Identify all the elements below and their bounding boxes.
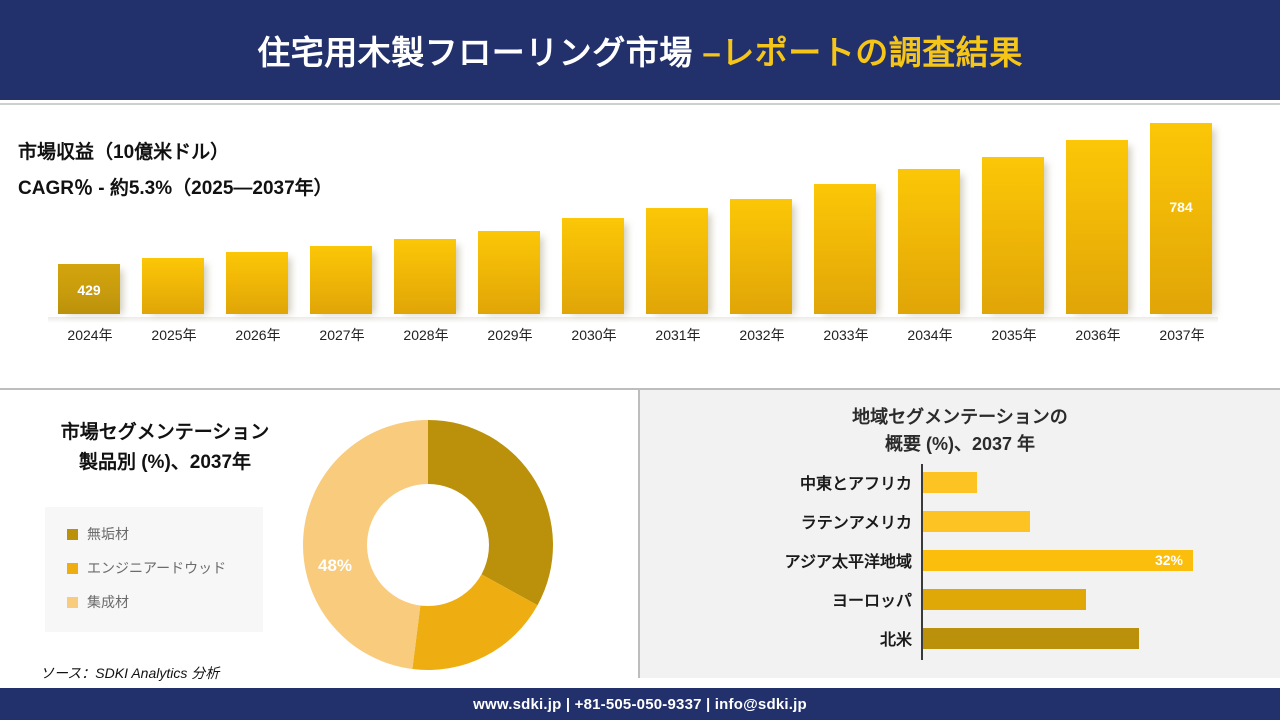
regional-segmentation-title-line1: 地域セグメンテーションの: [640, 404, 1280, 431]
bar-column: [972, 155, 1056, 314]
legend-item-label: エンジニアードウッド: [87, 558, 226, 578]
bar-rect: 784: [1150, 123, 1212, 314]
region-bar: [923, 511, 1030, 532]
bar-x-axis-label: 2035年: [972, 325, 1056, 345]
page-header: 住宅用木製フローリング市場 –レポートの調査結果: [0, 0, 1280, 100]
regional-segmentation-panel: 地域セグメンテーションの 概要 (%)、2037 年 中東とアフリカラテンアメリ…: [640, 390, 1280, 678]
region-label: ヨーロッパ: [832, 587, 912, 611]
regional-segmentation-title-line2: 概要 (%)、2037 年: [640, 431, 1280, 458]
legend-item[interactable]: エンジニアードウッド: [45, 551, 263, 585]
page-footer: www.sdki.jp | +81-505-050-9337 | info@sd…: [0, 688, 1280, 720]
bar-rect: [646, 208, 708, 314]
bar-rect: [898, 169, 960, 314]
bar-rect: 429: [58, 264, 120, 314]
bar-column: [720, 197, 804, 314]
bar-column: [468, 229, 552, 314]
page-title-accent: –レポートの調査結果: [702, 34, 1022, 71]
bar-x-axis-label: 2028年: [384, 325, 468, 345]
bar-x-axis-label: 2033年: [804, 325, 888, 345]
regional-segmentation-title: 地域セグメンテーションの 概要 (%)、2037 年: [640, 404, 1280, 458]
bar-rect: [226, 252, 288, 314]
region-bar-row: ヨーロッパ: [640, 581, 1280, 617]
bar-x-axis-label: 2027年: [300, 325, 384, 345]
bar-baseline-shadow: [48, 317, 1218, 323]
bar-x-axis-label: 2025年: [132, 325, 216, 345]
region-bar-row: 中東とアフリカ: [640, 464, 1280, 500]
region-bar-row: ラテンアメリカ: [640, 503, 1280, 539]
bar-column: [1056, 138, 1140, 314]
bar-x-axis-label: 2036年: [1056, 325, 1140, 345]
page-title-main: 住宅用木製フローリング市場: [257, 34, 702, 71]
bar-column: [636, 206, 720, 314]
bar-x-axis-label: 2037年: [1140, 325, 1224, 345]
region-bar: [923, 628, 1139, 649]
bar-x-axis-label: 2024年: [48, 325, 132, 345]
market-revenue-panel: 市場収益（10億米ドル） CAGR％ - 約5.3%（2025―2037年） 4…: [0, 105, 1280, 388]
region-label: ラテンアメリカ: [801, 509, 912, 533]
bar-rect: [142, 258, 204, 314]
bar-column: [300, 244, 384, 314]
region-bar-row: アジア太平洋地域32%: [640, 542, 1280, 578]
region-bar: [923, 589, 1086, 610]
bar-x-axis-label: 2031年: [636, 325, 720, 345]
region-bar-value-label: 32%: [1155, 552, 1183, 568]
product-segmentation-title: 市場セグメンテーション 製品別 (%)、2037年: [20, 418, 310, 478]
product-segmentation-panel: 市場セグメンテーション 製品別 (%)、2037年 無垢材エンジニアードウッド集…: [0, 390, 638, 678]
bar-column: 429: [48, 262, 132, 314]
bar-rect: [814, 184, 876, 314]
donut-svg: [303, 420, 553, 670]
legend-swatch-icon: [67, 597, 78, 608]
bar-column: [552, 216, 636, 314]
legend-swatch-icon: [67, 563, 78, 574]
source-note: ソース：SDKI Analytics 分析: [40, 663, 219, 683]
legend-item[interactable]: 無垢材: [45, 517, 263, 551]
bar-x-axis-label: 2034年: [888, 325, 972, 345]
bar-column: [216, 250, 300, 314]
bar-column: 784: [1140, 121, 1224, 314]
bar-value-label: 784: [1150, 199, 1212, 215]
bar-x-axis-label: 2026年: [216, 325, 300, 345]
footer-contact: www.sdki.jp | +81-505-050-9337 | info@sd…: [473, 696, 807, 713]
bar-x-axis-label: 2029年: [468, 325, 552, 345]
bar-rect: [730, 199, 792, 314]
bar-rect: [562, 218, 624, 314]
bar-rect: [310, 246, 372, 314]
legend-item-label: 無垢材: [87, 524, 129, 544]
product-segmentation-donut: [303, 420, 553, 670]
region-bar: [923, 472, 977, 493]
bar-column: [384, 237, 468, 314]
product-segmentation-title-line2: 製品別 (%)、2037年: [20, 448, 310, 478]
region-bar-row: 北米: [640, 620, 1280, 656]
legend-swatch-icon: [67, 529, 78, 540]
product-segmentation-legend: 無垢材エンジニアードウッド集成材: [45, 507, 263, 632]
legend-item-label: 集成材: [87, 592, 129, 612]
bar-column: [804, 182, 888, 314]
bar-column: [888, 167, 972, 314]
bar-rect: [1066, 140, 1128, 314]
donut-hole: [367, 484, 489, 606]
bar-value-label: 429: [58, 282, 120, 298]
bar-x-axis-label: 2032年: [720, 325, 804, 345]
region-label: 中東とアフリカ: [800, 470, 912, 494]
region-bar: 32%: [923, 550, 1193, 571]
region-label: 北米: [880, 626, 912, 650]
bar-rect: [478, 231, 540, 314]
donut-callout-label: 48%: [318, 556, 352, 576]
bar-column: [132, 256, 216, 314]
product-segmentation-title-line1: 市場セグメンテーション: [20, 418, 310, 448]
legend-item[interactable]: 集成材: [45, 585, 263, 619]
bar-rect: [982, 157, 1044, 314]
region-label: アジア太平洋地域: [785, 548, 912, 572]
bar-rect: [394, 239, 456, 314]
bar-x-axis-label: 2030年: [552, 325, 636, 345]
page-title: 住宅用木製フローリング市場 –レポートの調査結果: [257, 26, 1023, 74]
